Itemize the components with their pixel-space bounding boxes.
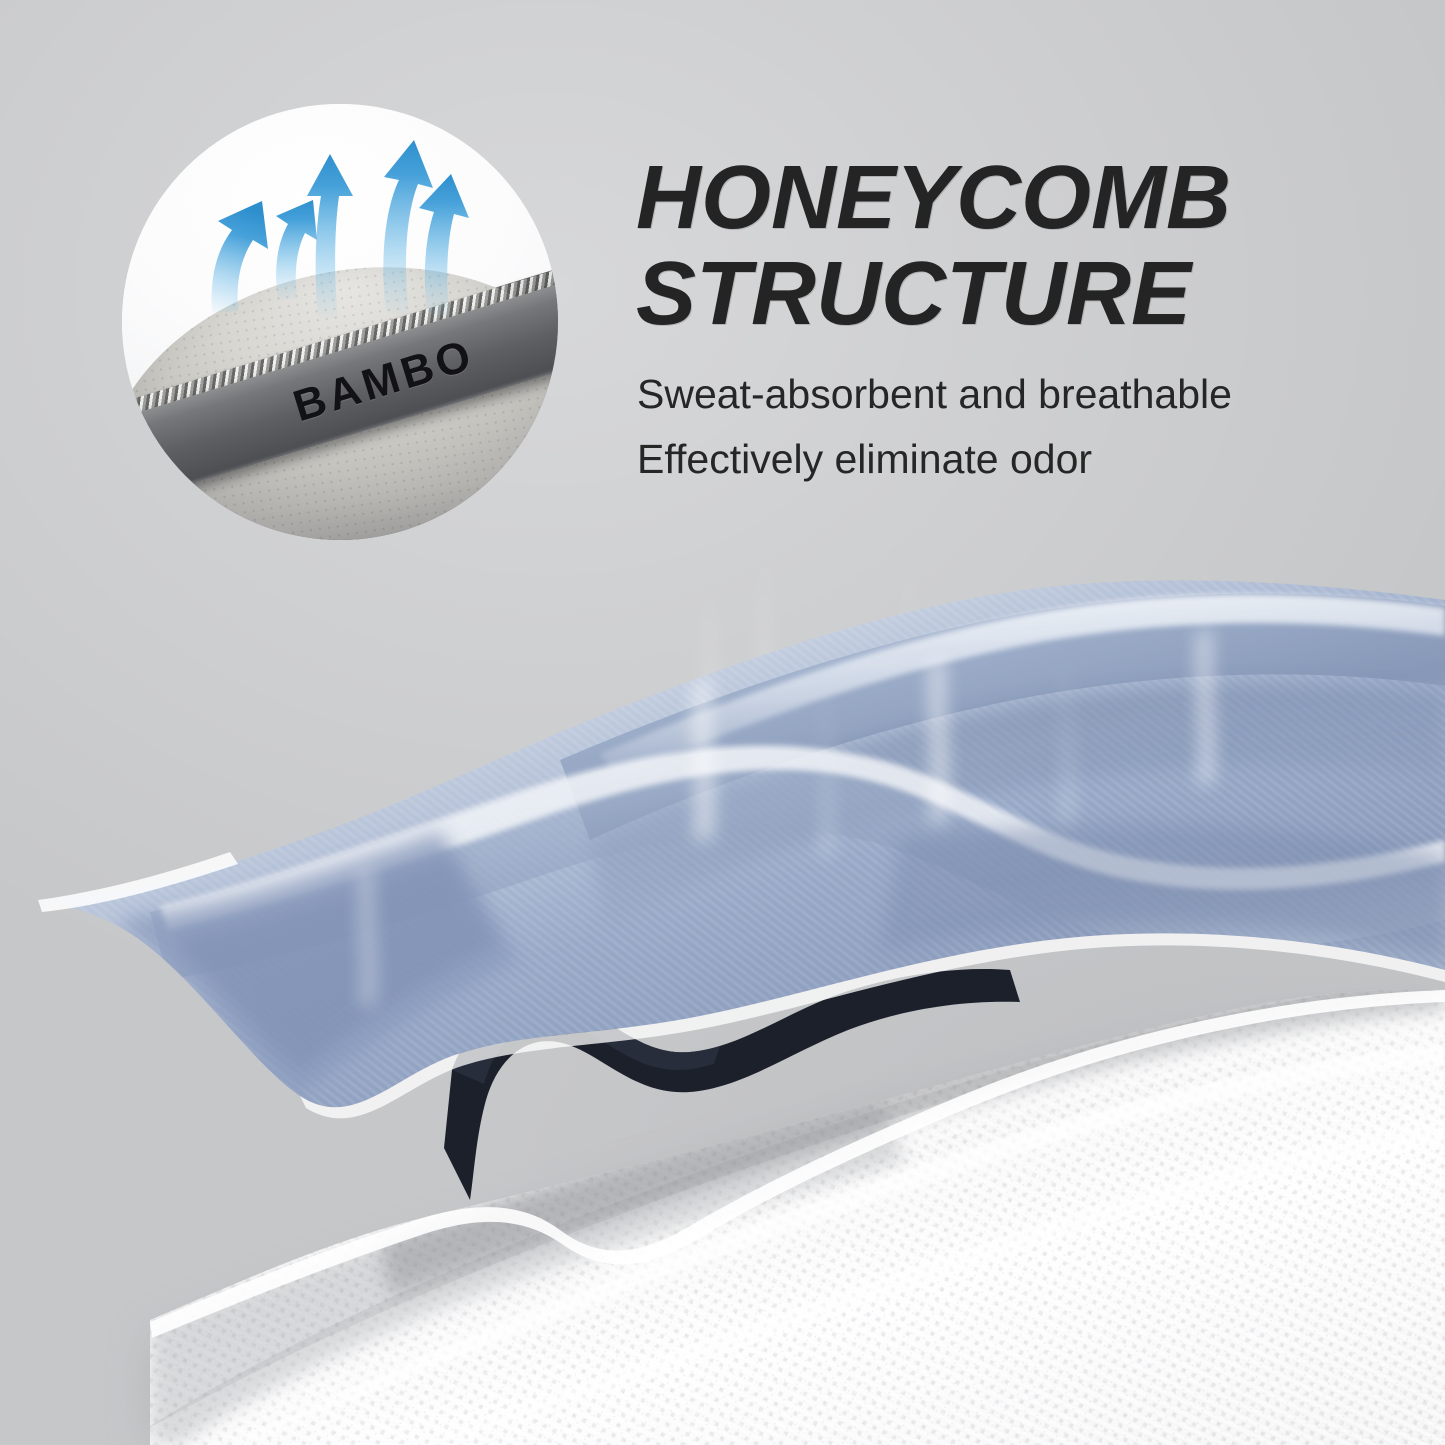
subtitle-line-2: Effectively eliminate odor <box>637 427 1397 492</box>
airflow-arrow-group <box>122 104 558 540</box>
subtitle-line-1: Sweat-absorbent and breathable <box>637 362 1397 427</box>
title-line-1: HONEYCOMB <box>636 150 1396 246</box>
airflow-arrow-5 <box>419 174 469 316</box>
page-title: HONEYCOMB STRUCTURE <box>636 150 1396 343</box>
airflow-arrow-2 <box>276 200 317 300</box>
inset-photograph: BAMBO <box>122 104 558 540</box>
airflow-arrow-1 <box>212 201 268 313</box>
product-photo-inset: BAMBO <box>122 104 558 540</box>
product-feature-graphic: BAMBO <box>0 0 1445 1445</box>
page-subtitle: Sweat-absorbent and breathable Effective… <box>637 362 1397 492</box>
fabric-illustration <box>0 540 1445 1445</box>
title-line-2: STRUCTURE <box>636 246 1396 342</box>
